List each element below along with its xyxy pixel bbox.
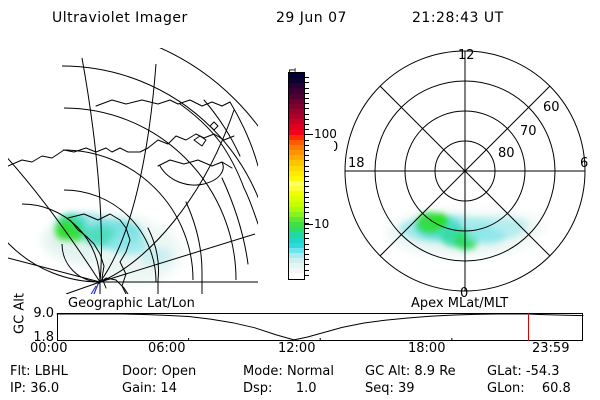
colorbar-minor-tick [305,212,309,213]
uvi-display: Ultraviolet Imager 29 Jun 07 21:28:43 UT [0,0,600,400]
colorbar-minor-tick [305,238,309,239]
colorbar-major-tick [305,224,313,225]
colorbar-minor-tick [305,264,309,265]
apex-mlat-mlt-panel[interactable]: 12 6 0 18 0 60 70 80 [334,45,596,297]
colorbar-band [289,273,304,278]
status-gcalt: GC Alt: 8.9 Re [365,364,456,379]
altitude-strip[interactable]: GC Alt 9.0 1.8 Geographic Lat/Lon Apex M… [0,296,600,358]
colorbar-minor-tick [305,160,309,161]
y-tick-high: 9.0 [14,307,54,320]
colorbar-minor-tick [305,145,309,146]
status-door-label: Door: [122,364,157,379]
colorbar-gradient [288,72,305,280]
geographic-svg [8,48,258,294]
aurora-emission-apex [388,211,544,255]
status-glon-label: GLon: [487,381,525,396]
status-seq: Seq: 39 [365,381,415,396]
status-glat: GLat: -54.3 [487,364,560,379]
status-door-value: Open [162,364,197,379]
colorbar-minor-tick [305,129,309,130]
colorbar-ticks [305,72,312,280]
colorbar-minor-tick [305,166,309,167]
status-flt-label: Flt: [10,364,31,379]
geographic-image-panel[interactable] [8,48,258,294]
status-gcalt-label: GC Alt: [365,364,410,379]
apex-dial-svg: 12 6 0 18 0 60 70 80 [334,45,596,297]
status-seq-value: 39 [398,381,415,396]
colorbar-minor-tick [305,119,309,120]
colorbar-minor-tick [305,233,309,234]
status-gain-value: 14 [160,381,177,396]
status-ip: IP: 36.0 [10,381,59,396]
status-ip-label: IP: [10,381,26,396]
status-glat-label: GLat: [487,364,522,379]
status-dsp-label: Dsp: [243,381,272,396]
x-tick-0000: 00:00 [30,342,67,355]
status-mode-value: Normal [287,364,334,379]
status-gain: Gain: 14 [122,381,177,396]
status-flt: Flt: LBHL [10,364,68,379]
colorbar-minor-tick [305,228,309,229]
status-footer: Flt: LBHL IP: 36.0 Door: Open Gain: 14 M… [0,364,600,400]
x-tick-1200: 12:00 [278,342,315,355]
status-glat-value: -54.3 [526,364,560,379]
instrument-title: Ultraviolet Imager [52,10,188,26]
apex-panel-title: Apex MLat/MLT [411,296,508,311]
colorbar-minor-tick [305,77,309,78]
colorbar-minor-tick [305,98,309,99]
colorbar-minor-tick [305,171,309,172]
colorbar-minor-tick [305,108,309,109]
geographic-panel-title: Geographic Lat/Lon [68,296,195,311]
mlt-spokes [345,51,585,291]
status-dsp-value: 1.0 [277,381,317,396]
header: Ultraviolet Imager 29 Jun 07 21:28:43 UT [0,5,600,33]
colorbar-minor-tick [305,244,309,245]
mlt-label-12: 12 [458,48,475,63]
colorbar-minor-tick [305,140,309,141]
altitude-plot [57,313,583,341]
status-glon: GLon: 60.8 [487,381,571,396]
status-gain-label: Gain: [122,381,156,396]
mlt-label-18: 18 [348,156,365,171]
x-tick-2359: 23:59 [532,342,569,355]
colorbar-minor-tick [305,186,309,187]
colorbar-minor-tick [305,207,309,208]
mlat-ring-label-80: 80 [498,146,515,161]
status-ip-value: 36.0 [30,381,59,396]
colorbar-minor-tick [305,181,309,182]
observation-time: 21:28:43 UT [412,10,504,26]
status-door: Door: Open [122,364,196,379]
colorbar-minor-tick [305,192,309,193]
colorbar-minor-tick [305,275,309,276]
mlat-ring-label-60: 60 [543,100,560,115]
mlat-ring-label-70: 70 [520,124,537,139]
mlt-label-6: 6 [580,156,588,171]
colorbar-minor-tick [305,103,309,104]
status-dsp: Dsp: 1.0 [243,381,317,396]
status-mode: Mode: Normal [243,364,334,379]
colorbar-tick-label-10: 10 [314,218,329,230]
status-flt-value: LBHL [35,364,68,379]
x-tick-0600: 06:00 [148,342,185,355]
status-glon-value: 60.8 [529,381,571,396]
status-gcalt-value: 8.9 Re [414,364,455,379]
time-cursor [528,313,529,341]
colorbar-minor-tick [305,218,309,219]
colorbar-minor-tick [305,254,309,255]
colorbar-minor-tick [305,124,309,125]
status-mode-label: Mode: [243,364,283,379]
colorbar-major-tick [305,134,313,135]
colorbar-minor-tick [305,270,309,271]
status-seq-label: Seq: [365,381,394,396]
colorbar-minor-tick [305,88,309,89]
dial-labels: 12 6 0 18 0 60 70 80 [334,48,588,297]
x-tick-1800: 18:00 [408,342,445,355]
observation-date: 29 Jun 07 [276,10,347,26]
colorbar-minor-tick [305,114,309,115]
mlt-label-0-outer: 0 [334,140,338,155]
colorbar-minor-tick [305,93,309,94]
colorbar-minor-tick [305,259,309,260]
colorbar-minor-tick [305,249,309,250]
colorbar-minor-tick [305,202,309,203]
colorbar-minor-tick [305,176,309,177]
colorbar: photon cm-2s-1 10010 [258,62,334,292]
colorbar-minor-tick [305,197,309,198]
colorbar-minor-tick [305,150,309,151]
colorbar-minor-tick [305,82,309,83]
colorbar-minor-tick [305,155,309,156]
